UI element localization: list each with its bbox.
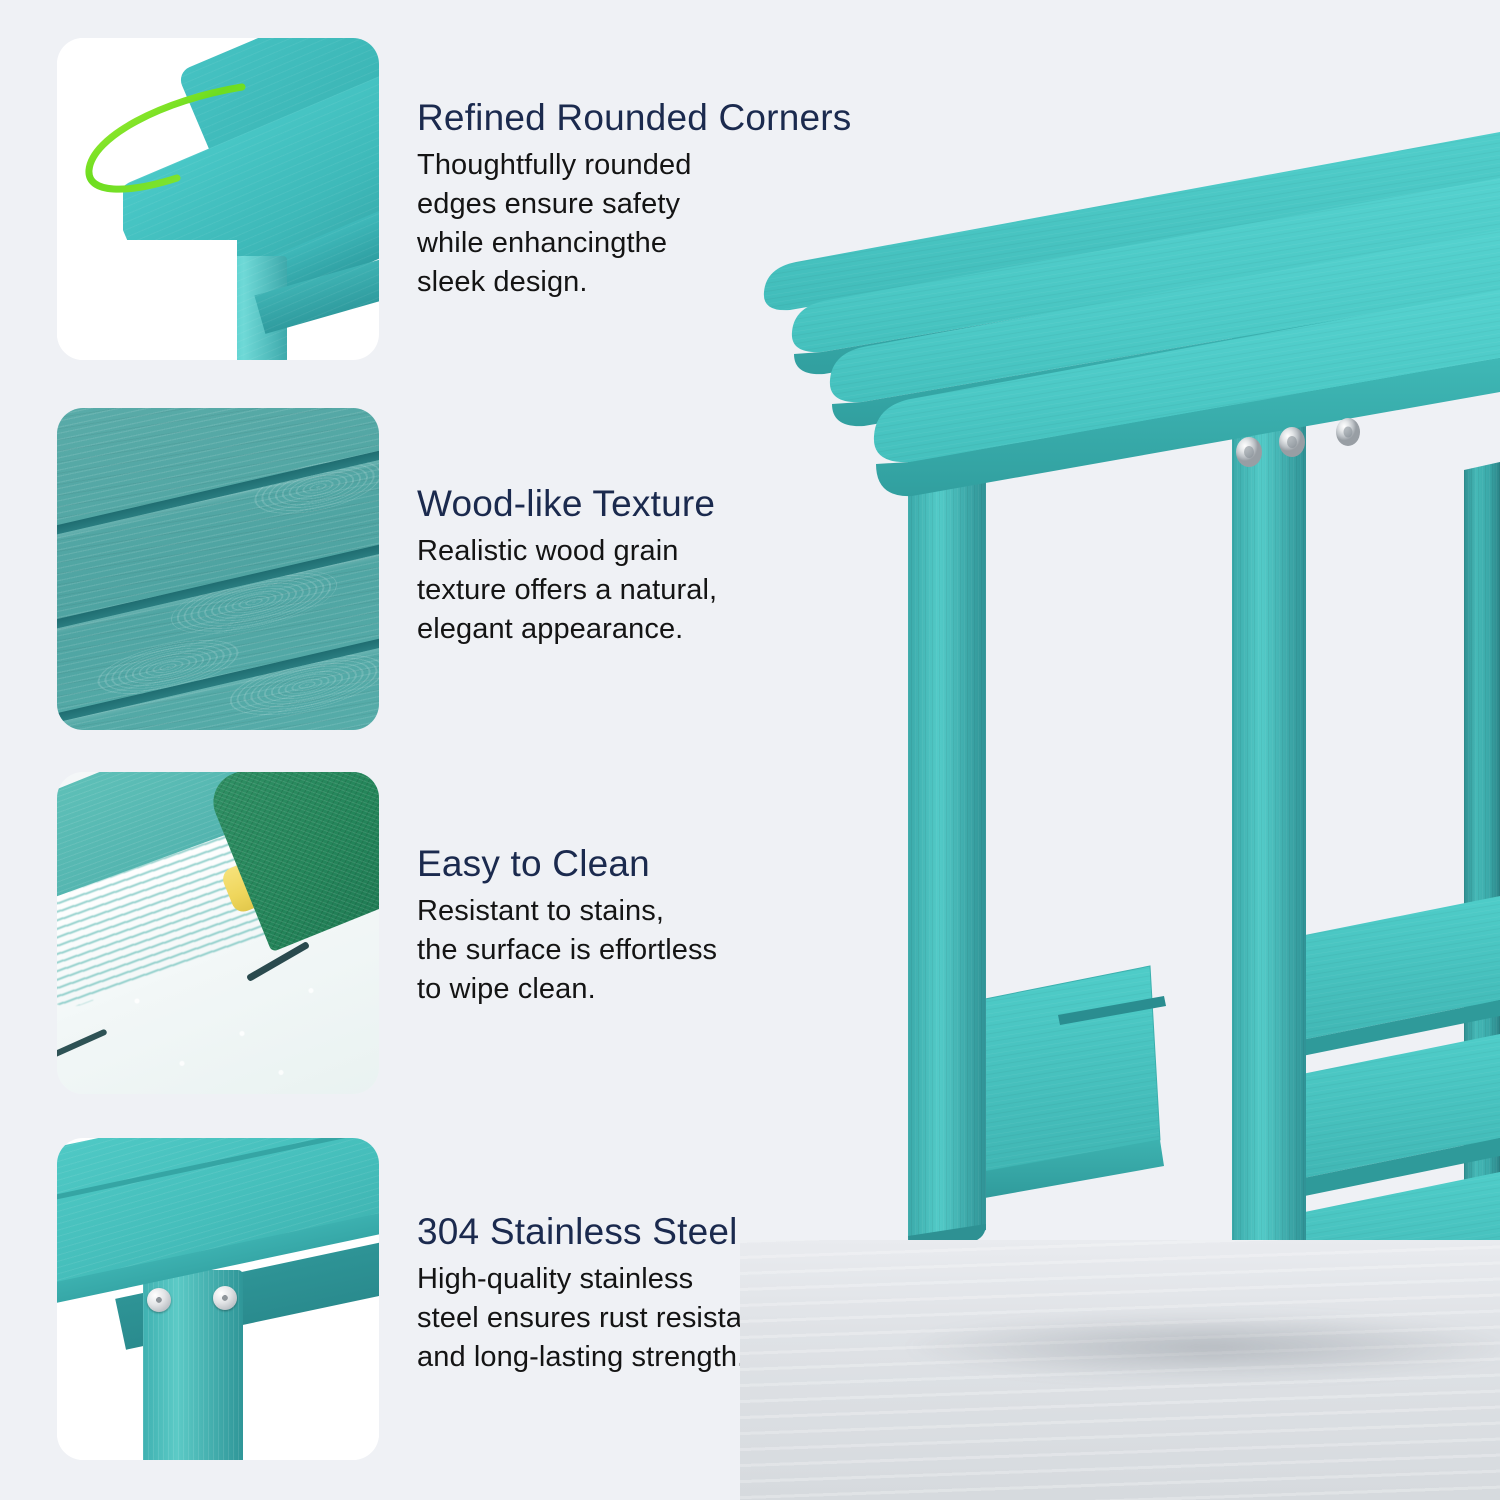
table-leg-front-left — [908, 400, 986, 1254]
feature-list: Refined Rounded Corners Thoughtfully rou… — [0, 0, 840, 1500]
stainless-screw-icon — [147, 1288, 171, 1312]
feature-item-stainless-steel: 304 Stainless Steel High-quality stainle… — [0, 1138, 840, 1468]
stainless-screw-icon — [213, 1286, 237, 1310]
product-drop-shadow — [900, 1312, 1500, 1382]
table-top-slats — [764, 132, 1500, 496]
screw-group-right-apron — [1336, 418, 1360, 446]
screw-icon — [57, 1138, 379, 1460]
green-highlight-arc-icon — [67, 82, 257, 212]
sponge-icon — [57, 772, 379, 1094]
rounded-corner-icon — [57, 38, 379, 360]
wood-grain-icon — [57, 408, 379, 730]
feature-item-wood-texture: Wood-like Texture Realistic wood grain t… — [0, 408, 840, 738]
feature-item-easy-to-clean: Easy to Clean Resistant to stains, the s… — [0, 772, 840, 1102]
product-hero-image — [740, 0, 1500, 1500]
feature-item-rounded-corners: Refined Rounded Corners Thoughtfully rou… — [0, 38, 840, 368]
infographic-page: Refined Rounded Corners Thoughtfully rou… — [0, 0, 1500, 1500]
